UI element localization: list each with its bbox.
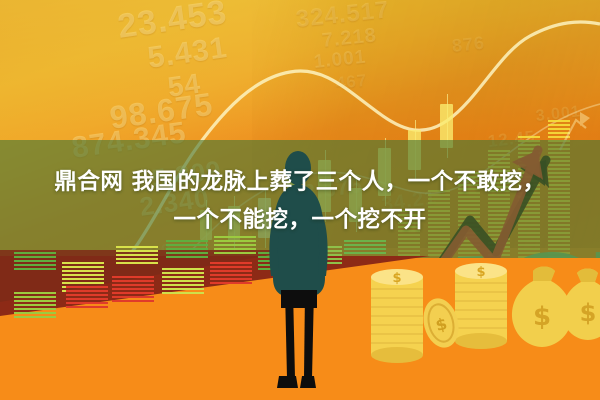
- ticker-block: [210, 262, 252, 286]
- svg-text:$: $: [392, 271, 401, 286]
- coin-stack-left: $: [371, 269, 423, 363]
- headline-line-2: 一个不能挖，一个挖不开: [14, 201, 586, 239]
- ticker-block: [66, 286, 108, 310]
- ticker-block: [112, 276, 154, 304]
- ticker-block: [214, 236, 256, 256]
- ticker-block: [116, 246, 158, 266]
- headline-text: 鼎合网 我国的龙脉上葬了三个人，一个不敢挖， 一个不能挖，一个挖不开: [0, 163, 600, 239]
- headline-line-1: 鼎合网 我国的龙脉上葬了三个人，一个不敢挖，: [14, 163, 586, 201]
- coins-and-money-bags: $ $ $: [355, 255, 600, 400]
- money-bag-2: $: [562, 269, 600, 341]
- svg-text:$: $: [476, 265, 485, 280]
- ticker-block: [14, 252, 56, 272]
- banner-image: 23.4535.4315498.675874.3455.3092.340324.…: [0, 0, 600, 400]
- ticker-block: [166, 240, 208, 260]
- svg-text:$: $: [580, 299, 597, 327]
- ticker-block: [344, 240, 386, 256]
- svg-text:$: $: [533, 302, 551, 332]
- ticker-block: [14, 292, 56, 320]
- coin-stack-right: $: [455, 263, 507, 349]
- ticker-block: [162, 268, 204, 296]
